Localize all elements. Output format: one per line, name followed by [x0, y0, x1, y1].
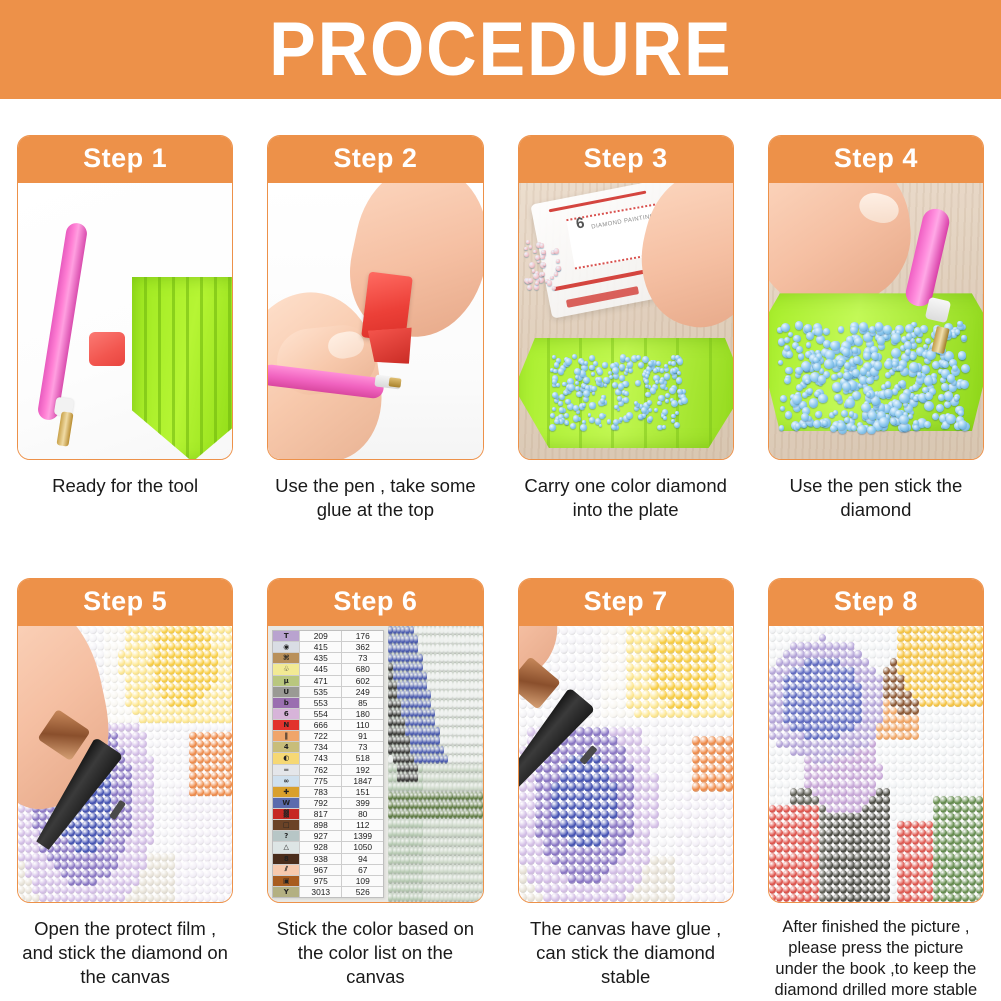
color-symbol-cell: Y — [273, 887, 300, 897]
canvas-bead — [519, 874, 527, 883]
canvas-bead — [197, 675, 204, 683]
canvas-bead — [448, 755, 452, 764]
step-6-photo: T209176◉415362⌘43573♧445680μ471602U53524… — [268, 626, 482, 902]
color-code-cell: 762 — [300, 765, 342, 775]
canvas-bead — [904, 691, 911, 699]
canvas-bead — [659, 718, 667, 727]
canvas-bead — [904, 658, 911, 666]
canvas-bead — [104, 805, 111, 813]
canvas-bead — [626, 654, 634, 663]
canvas-bead — [388, 663, 392, 672]
canvas-bead — [804, 780, 811, 788]
canvas-bead — [716, 856, 724, 865]
canvas-bead — [535, 819, 543, 828]
diamond-bead — [657, 401, 661, 405]
canvas-bead — [204, 764, 211, 772]
canvas-bead — [904, 886, 911, 894]
canvas-bead — [683, 819, 691, 828]
canvas-bead — [904, 829, 911, 837]
canvas-bead — [819, 732, 826, 740]
canvas-bead — [139, 878, 146, 886]
canvas-bead — [642, 893, 650, 902]
canvas-bead — [388, 709, 392, 718]
canvas-bead — [954, 740, 961, 748]
canvas-bead — [197, 691, 204, 699]
canvas-bead — [804, 650, 811, 658]
canvas-bead — [89, 829, 96, 837]
diamond-bead — [676, 377, 682, 383]
color-list-row: ◉415362 — [273, 642, 383, 653]
canvas-bead — [912, 642, 919, 650]
canvas-bead — [617, 718, 625, 727]
canvas-bead — [197, 764, 204, 772]
color-list-row: □898112 — [273, 820, 383, 831]
diamond-bead — [599, 413, 605, 419]
canvas-bead — [954, 732, 961, 740]
diamond-bead — [583, 377, 590, 384]
canvas-bead — [609, 672, 617, 681]
canvas-bead — [593, 884, 601, 893]
blue-diamonds — [519, 183, 733, 459]
color-symbol-cell: T — [273, 631, 300, 641]
canvas-bead — [976, 699, 983, 707]
canvas-bead — [812, 683, 819, 691]
canvas-bead — [593, 828, 601, 837]
canvas-bead — [617, 690, 625, 699]
canvas-bead — [448, 884, 452, 893]
canvas-bead — [139, 837, 146, 845]
canvas-bead — [650, 764, 658, 773]
canvas-bead — [954, 675, 961, 683]
canvas-bead — [869, 878, 876, 886]
canvas-bead — [716, 654, 724, 663]
diamond-bead — [813, 420, 821, 428]
canvas-bead — [418, 755, 422, 764]
canvas-bead — [139, 772, 146, 780]
diamond-bead — [529, 245, 533, 249]
canvas-bead — [448, 635, 452, 644]
canvas-bead — [659, 644, 667, 653]
canvas-bead — [869, 894, 876, 902]
canvas-bead — [388, 626, 392, 635]
canvas-bead — [189, 845, 196, 853]
canvas-bead — [626, 782, 634, 791]
canvas-bead — [609, 801, 617, 810]
color-symbol-cell: 8 — [273, 854, 300, 864]
diamond-bead — [556, 259, 560, 263]
canvas-bead — [89, 796, 96, 804]
color-code-cell: 792 — [300, 798, 342, 808]
canvas-bead — [659, 663, 667, 672]
canvas-bead — [976, 796, 983, 804]
diamond-bead — [650, 387, 657, 394]
canvas-bead — [225, 861, 232, 869]
canvas-bead — [954, 845, 961, 853]
canvas-bead — [854, 837, 861, 845]
canvas-bead — [601, 828, 609, 837]
canvas-bead — [139, 723, 146, 731]
canvas-bead — [535, 838, 543, 847]
diamond-bead — [818, 394, 828, 404]
diamond-bead — [619, 364, 625, 370]
canvas-bead — [104, 894, 111, 902]
canvas-bead — [819, 642, 826, 650]
canvas-bead — [919, 675, 926, 683]
canvas-bead — [812, 837, 819, 845]
canvas-bead — [769, 772, 776, 780]
canvas-bead — [683, 736, 691, 745]
canvas-bead — [854, 805, 861, 813]
canvas-bead — [976, 658, 983, 666]
canvas-bead — [593, 635, 601, 644]
canvas-bead — [584, 635, 592, 644]
canvas-bead — [448, 700, 452, 709]
diamond-bead — [852, 369, 860, 377]
canvas-bead — [626, 727, 634, 736]
canvas-bead — [626, 635, 634, 644]
diamond-bead — [527, 285, 532, 290]
color-symbol-cell: ▣ — [273, 876, 300, 886]
diamond-bead — [845, 398, 855, 408]
canvas-bead — [560, 893, 568, 902]
canvas-bead — [104, 886, 111, 894]
canvas-bead — [584, 884, 592, 893]
diamond-bead — [784, 377, 791, 384]
canvas-bead — [97, 886, 104, 894]
canvas-bead — [634, 792, 642, 801]
canvas-bead — [211, 707, 218, 715]
canvas-bead — [708, 736, 716, 745]
canvas-bead — [962, 853, 969, 861]
canvas-bead — [700, 828, 708, 837]
canvas-bead — [650, 847, 658, 856]
canvas-bead — [804, 683, 811, 691]
canvas-bead — [609, 727, 617, 736]
canvas-bead — [97, 821, 104, 829]
color-count-cell: 110 — [342, 720, 383, 730]
canvas-bead — [204, 878, 211, 886]
canvas-bead — [593, 672, 601, 681]
canvas-bead — [692, 801, 700, 810]
canvas-bead — [862, 788, 869, 796]
canvas-bead — [976, 829, 983, 837]
canvas-bead — [819, 878, 826, 886]
diamond-bead — [663, 416, 667, 420]
canvas-bead — [716, 893, 724, 902]
color-symbol-cell: U — [273, 687, 300, 697]
canvas-bead — [725, 856, 733, 865]
canvas-bead — [962, 821, 969, 829]
canvas-bead — [819, 796, 826, 804]
canvas-bead — [418, 644, 422, 653]
color-symbol-cell: ◉ — [273, 642, 300, 652]
canvas-bead — [104, 650, 111, 658]
canvas-bead — [478, 626, 482, 635]
canvas-bead — [593, 700, 601, 709]
canvas-bead — [919, 861, 926, 869]
step-5-header: Step 5 — [18, 579, 232, 626]
canvas-bead — [683, 718, 691, 727]
diamond-bead — [524, 247, 527, 250]
step-card-8: Step 8 After finished the picture , plea… — [751, 542, 1001, 1001]
canvas-bead — [804, 642, 811, 650]
canvas-bead — [708, 893, 716, 902]
canvas-bead — [617, 874, 625, 883]
canvas-bead — [708, 865, 716, 874]
diamond-bead — [807, 388, 813, 394]
canvas-bead — [626, 819, 634, 828]
canvas-bead — [919, 829, 926, 837]
canvas-bead — [769, 878, 776, 886]
color-code-cell: 928 — [300, 842, 342, 852]
canvas-bead — [104, 642, 111, 650]
canvas-bead — [804, 886, 811, 894]
canvas-bead — [418, 792, 422, 801]
canvas-bead — [819, 723, 826, 731]
canvas-bead — [39, 853, 46, 861]
canvas-bead — [976, 788, 983, 796]
canvas-bead — [869, 780, 876, 788]
canvas-bead — [912, 780, 919, 788]
canvas-bead — [478, 746, 482, 755]
canvas-bead — [962, 861, 969, 869]
canvas-bead — [819, 861, 826, 869]
canvas-bead — [225, 796, 232, 804]
diamond-bead — [796, 384, 803, 391]
canvas-bead — [708, 681, 716, 690]
canvas-bead — [862, 642, 869, 650]
canvas-bead — [97, 845, 104, 853]
canvas-bead — [819, 829, 826, 837]
color-symbol-cell: ⫽ — [273, 865, 300, 875]
canvas-bead — [576, 644, 584, 653]
canvas-bead — [725, 874, 733, 883]
canvas-bead — [700, 718, 708, 727]
canvas-bead — [104, 658, 111, 666]
color-symbol-cell: b — [273, 698, 300, 708]
diamond-bead — [529, 262, 535, 268]
canvas-bead — [448, 654, 452, 663]
canvas-bead — [854, 699, 861, 707]
canvas-bead — [708, 746, 716, 755]
canvas-bead — [139, 699, 146, 707]
canvas-bead — [448, 746, 452, 755]
canvas-bead — [39, 861, 46, 869]
canvas-bead — [388, 755, 392, 764]
canvas-bead — [862, 813, 869, 821]
canvas-bead — [448, 810, 452, 819]
diamond-bead — [936, 404, 944, 412]
canvas-bead — [675, 727, 683, 736]
canvas-bead — [962, 707, 969, 715]
canvas-bead — [543, 764, 551, 773]
canvas-bead — [584, 847, 592, 856]
diamond-bead — [842, 382, 851, 391]
canvas-bead — [725, 727, 733, 736]
canvas-bead — [904, 723, 911, 731]
canvas-bead — [700, 672, 708, 681]
canvas-bead — [716, 782, 724, 791]
diamond-bead — [552, 286, 556, 290]
canvas-bead — [478, 874, 482, 883]
canvas-bead — [388, 792, 392, 801]
canvas-bead — [104, 691, 111, 699]
canvas-bead — [626, 874, 634, 883]
canvas-bead — [769, 748, 776, 756]
canvas-bead — [650, 644, 658, 653]
canvas-bead — [862, 699, 869, 707]
canvas-bead — [418, 856, 422, 865]
canvas-bead — [601, 690, 609, 699]
canvas-bead — [189, 870, 196, 878]
canvas-bead — [919, 732, 926, 740]
canvas-bead — [560, 654, 568, 663]
canvas-bead — [97, 878, 104, 886]
canvas-bead — [527, 792, 535, 801]
step-card-1: Step 1 Ready for the tool — [0, 99, 250, 542]
canvas-bead — [919, 748, 926, 756]
canvas-bead — [962, 756, 969, 764]
canvas-bead — [617, 672, 625, 681]
canvas-bead — [147, 748, 154, 756]
canvas-bead — [225, 780, 232, 788]
canvas-bead — [854, 796, 861, 804]
canvas-bead — [667, 828, 675, 837]
canvas-bead — [804, 853, 811, 861]
canvas-bead — [869, 650, 876, 658]
canvas-bead — [418, 690, 422, 699]
canvas-bead — [659, 654, 667, 663]
canvas-bead — [969, 740, 976, 748]
canvas-bead — [954, 853, 961, 861]
canvas-bead — [634, 727, 642, 736]
canvas-bead — [769, 788, 776, 796]
canvas-bead — [147, 853, 154, 861]
diamond-bead — [831, 374, 837, 380]
canvas-bead — [769, 870, 776, 878]
diamond-bead — [550, 276, 553, 279]
diamond-bead — [837, 360, 843, 366]
canvas-bead — [969, 756, 976, 764]
canvas-bead — [976, 748, 983, 756]
canvas-bead — [692, 746, 700, 755]
canvas-bead — [104, 861, 111, 869]
canvas-bead — [912, 732, 919, 740]
canvas-bead — [535, 773, 543, 782]
canvas-bead — [904, 732, 911, 740]
canvas-bead — [862, 821, 869, 829]
diamond-bead — [638, 415, 642, 419]
color-symbol-cell: μ — [273, 676, 300, 686]
canvas-bead — [147, 634, 154, 642]
canvas-bead — [642, 654, 650, 663]
canvas-bead — [804, 805, 811, 813]
canvas-bead — [700, 736, 708, 745]
canvas-bead — [804, 707, 811, 715]
canvas-bead — [568, 792, 576, 801]
canvas-bead — [225, 707, 232, 715]
color-count-cell: 67 — [342, 865, 383, 875]
diamond-bead — [597, 369, 603, 375]
canvas-bead — [139, 626, 146, 634]
canvas-bead — [154, 634, 161, 642]
diamond-canvas — [519, 626, 733, 902]
canvas-bead — [969, 691, 976, 699]
canvas-bead — [154, 861, 161, 869]
canvas-bead — [97, 650, 104, 658]
canvas-bead — [962, 715, 969, 723]
canvas-bead — [700, 709, 708, 718]
step-1-photo — [18, 183, 232, 459]
canvas-bead — [388, 828, 392, 837]
diamond-bead — [570, 423, 576, 429]
canvas-bead — [725, 801, 733, 810]
canvas-bead — [976, 837, 983, 845]
diamond-bead — [549, 424, 556, 431]
canvas-bead — [418, 635, 422, 644]
canvas-bead — [812, 845, 819, 853]
canvas-bead — [634, 746, 642, 755]
color-list-row: ▓81780 — [273, 809, 383, 820]
color-code-cell: 553 — [300, 698, 342, 708]
canvas-bead — [650, 663, 658, 672]
canvas-bead — [478, 644, 482, 653]
diamond-bead — [660, 368, 665, 373]
canvas-bead — [869, 861, 876, 869]
diamond-bead — [564, 391, 568, 395]
canvas-bead — [478, 654, 482, 663]
canvas-bead — [147, 870, 154, 878]
canvas-bead — [154, 626, 161, 634]
canvas-bead — [626, 893, 634, 902]
canvas-bead — [139, 691, 146, 699]
canvas-bead — [708, 626, 716, 635]
color-list-chart: T209176◉415362⌘43573♧445680μ471602U53524… — [272, 630, 384, 898]
canvas-bead — [804, 756, 811, 764]
canvas-bead — [204, 675, 211, 683]
canvas-bead — [584, 838, 592, 847]
canvas-bead — [519, 736, 527, 745]
canvas-bead — [418, 884, 422, 893]
diamond-bead — [938, 394, 945, 401]
canvas-bead — [862, 870, 869, 878]
canvas-bead — [650, 709, 658, 718]
diamond-bead — [832, 382, 842, 392]
diamond-bead — [853, 356, 861, 364]
canvas-bead — [725, 746, 733, 755]
canvas-bead — [904, 740, 911, 748]
canvas-bead — [962, 650, 969, 658]
step-card-3: Step 3 6 DIAMOND PAINTING — [501, 99, 751, 542]
canvas-bead — [527, 718, 535, 727]
canvas-bead — [584, 810, 592, 819]
canvas-bead — [104, 837, 111, 845]
canvas-bead — [716, 884, 724, 893]
canvas-bead — [593, 819, 601, 828]
canvas-bead — [659, 828, 667, 837]
canvas-bead — [812, 634, 819, 642]
canvas-bead — [819, 821, 826, 829]
canvas-bead — [609, 718, 617, 727]
canvas-bead — [804, 796, 811, 804]
canvas-bead — [700, 893, 708, 902]
canvas-bead — [225, 691, 232, 699]
canvas-bead — [667, 672, 675, 681]
canvas-bead — [448, 828, 452, 837]
canvas-bead — [675, 746, 683, 755]
canvas-bead — [97, 853, 104, 861]
canvas-bead — [147, 788, 154, 796]
